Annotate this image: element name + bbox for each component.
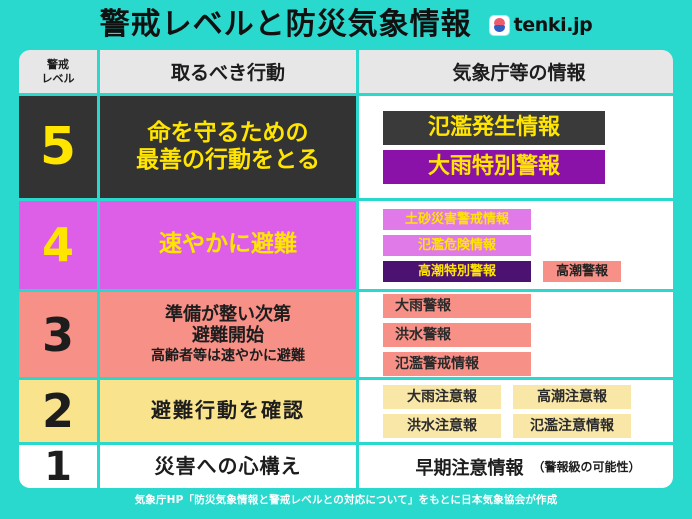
table-row-level-2: 2 避難行動を確認 大雨注意報 高潮注意報 洪水注意報 氾濫注意情報 (19, 380, 673, 442)
level-number: 3 (42, 312, 74, 358)
info-badge: 氾濫発生情報 (383, 111, 605, 145)
tenki-cube-icon (490, 16, 509, 35)
info-badge: 洪水注意報 (383, 414, 501, 438)
table-header-row: 警戒 レベル 取るべき行動 気象庁等の情報 (19, 50, 673, 93)
action-cell: 避難行動を確認 (100, 380, 356, 442)
info-badge-line: 氾濫危険情報 (383, 235, 531, 256)
info-badge-line: 洪水警報 (383, 323, 531, 347)
info-badge: 洪水警報 (383, 323, 531, 347)
action-line-1: 命を守るための (136, 120, 320, 147)
info-cell: 早期注意情報 （警報級の可能性） (359, 445, 673, 488)
info-badge: 大雨警報 (383, 294, 531, 318)
info-badge-line: 氾濫発生情報 (383, 111, 605, 145)
action-line-2: 最善の行動をとる (136, 147, 320, 174)
level-number-cell: 5 (19, 96, 97, 198)
info-badge-line: 大雨注意報 高潮注意報 (383, 385, 631, 409)
tenki-jp-logo[interactable]: tenki.jp (490, 16, 593, 35)
info-badge: 氾濫注意情報 (513, 414, 631, 438)
level-number: 5 (40, 121, 76, 173)
action-line-2: 避難開始 (151, 325, 305, 346)
action-cell: 命を守るための 最善の行動をとる (100, 96, 356, 198)
info-cell: 氾濫発生情報 大雨特別警報 (359, 96, 673, 198)
column-header-level-line1: 警戒 (42, 58, 75, 71)
info-badge-line: 土砂災害警戒情報 (383, 209, 531, 230)
level-number: 1 (44, 447, 72, 487)
level-number-cell: 4 (19, 201, 97, 289)
action-cell: 速やかに避難 (100, 201, 356, 289)
page-title: 警戒レベルと防災気象情報 (100, 10, 472, 40)
info-text: 早期注意情報 (415, 454, 523, 480)
action-line-1: 災害への心構え (151, 455, 306, 479)
action-line-1: 避難行動を確認 (147, 399, 309, 423)
info-badge-line: 大雨特別警報 (383, 150, 605, 184)
page-header: 警戒レベルと防災気象情報 tenki.jp (0, 0, 692, 50)
info-badge: 土砂災害警戒情報 (383, 209, 531, 230)
action-cell: 準備が整い次第 避難開始 高齢者等は速やかに避難 (100, 292, 356, 377)
info-badge-line: 洪水注意報 氾濫注意情報 (383, 414, 631, 438)
warning-level-table: 警戒 レベル 取るべき行動 気象庁等の情報 5 命を守るための 最善の行動をとる… (19, 50, 673, 488)
brand-label: tenki.jp (514, 16, 593, 35)
info-badge: 大雨注意報 (383, 385, 501, 409)
level-number-cell: 3 (19, 292, 97, 377)
level-number: 4 (42, 222, 74, 268)
action-line-1: 準備が整い次第 (151, 304, 305, 325)
table-row-level-5: 5 命を守るための 最善の行動をとる 氾濫発生情報 大雨特別警報 (19, 96, 673, 198)
level-number: 2 (42, 388, 74, 434)
info-badge: 氾濫警戒情報 (383, 352, 531, 376)
column-header-info: 気象庁等の情報 (359, 50, 673, 93)
action-line-1: 速やかに避難 (155, 231, 301, 258)
level-number-cell: 2 (19, 380, 97, 442)
column-header-level-line2: レベル (42, 72, 75, 85)
info-cell: 大雨警報 洪水警報 氾濫警戒情報 (359, 292, 673, 377)
info-badge: 高潮特別警報 (383, 261, 531, 282)
info-cell: 大雨注意報 高潮注意報 洪水注意報 氾濫注意情報 (359, 380, 673, 442)
info-badge: 氾濫危険情報 (383, 235, 531, 256)
table-row-level-1: 1 災害への心構え 早期注意情報 （警報級の可能性） (19, 445, 673, 488)
table-row-level-4: 4 速やかに避難 土砂災害警戒情報 氾濫危険情報 高潮特別警報 高潮警報 (19, 201, 673, 289)
column-header-action: 取るべき行動 (100, 50, 356, 93)
level-number-cell: 1 (19, 445, 97, 488)
action-cell: 災害への心構え (100, 445, 356, 488)
info-badge-line: 大雨警報 (383, 294, 531, 318)
info-badge: 大雨特別警報 (383, 150, 605, 184)
info-badge: 高潮警報 (543, 261, 621, 282)
action-subtext: 高齢者等は速やかに避難 (151, 347, 305, 365)
info-cell: 土砂災害警戒情報 氾濫危険情報 高潮特別警報 高潮警報 (359, 201, 673, 289)
info-badge-line: 氾濫警戒情報 (383, 352, 531, 376)
column-header-level: 警戒 レベル (19, 50, 97, 93)
source-credit: 気象庁HP「防災気象情報と警戒レベルとの対応について」をもとに日本気象協会が作成 (0, 492, 692, 507)
info-badge: 高潮注意報 (513, 385, 631, 409)
table-row-level-3: 3 準備が整い次第 避難開始 高齢者等は速やかに避難 大雨警報 洪水警報 氾濫警… (19, 292, 673, 377)
info-badge-line: 高潮特別警報 高潮警報 (383, 261, 621, 282)
info-note: （警報級の可能性） (532, 458, 640, 475)
